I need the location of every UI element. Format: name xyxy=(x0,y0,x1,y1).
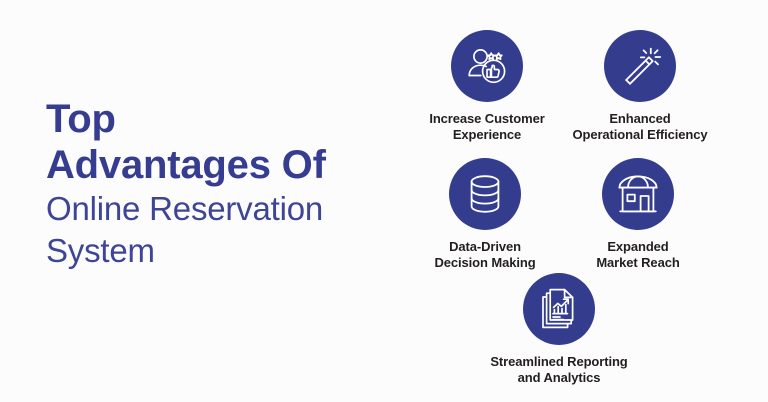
badge-label-line-2: Decision Making xyxy=(434,255,535,270)
badge-label: Increase Customer Experience xyxy=(409,111,565,143)
database-cylinder-icon xyxy=(465,173,505,215)
badge-enhanced-operational-efficiency[interactable]: Enhanced Operational Efficiency xyxy=(562,30,718,143)
badge-label: Streamlined Reporting and Analytics xyxy=(481,354,637,386)
report-bar-chart-document-icon xyxy=(539,287,579,331)
badge-label-line-2: Market Reach xyxy=(596,255,679,270)
badge-label-line-2: and Analytics xyxy=(518,370,601,385)
advantages-icon-cluster: Increase Customer Experience xyxy=(400,0,768,402)
badge-label-line-1: Streamlined Reporting xyxy=(490,354,627,369)
badge-expanded-market-reach[interactable]: Expanded Market Reach xyxy=(560,158,716,271)
badge-label-line-2: Operational Efficiency xyxy=(572,127,707,142)
infographic-canvas: Top Advantages Of Online Reservation Sys… xyxy=(0,0,768,402)
badge-circle xyxy=(523,273,595,345)
badge-label-line-1: Data-Driven xyxy=(449,239,521,254)
storefront-shop-icon xyxy=(616,173,660,215)
page-title: Top Advantages Of Online Reservation Sys… xyxy=(46,96,396,272)
badge-label: Enhanced Operational Efficiency xyxy=(562,111,718,143)
badge-circle xyxy=(604,30,676,102)
badge-label: Expanded Market Reach xyxy=(560,239,716,271)
badge-label-line-1: Increase Customer xyxy=(429,111,544,126)
badge-increase-customer-experience[interactable]: Increase Customer Experience xyxy=(409,30,565,143)
badge-streamlined-reporting-analytics[interactable]: Streamlined Reporting and Analytics xyxy=(481,273,637,386)
badge-data-driven-decision-making[interactable]: Data-Driven Decision Making xyxy=(407,158,563,271)
heading-line-1: Top xyxy=(46,96,396,142)
badge-label: Data-Driven Decision Making xyxy=(407,239,563,271)
badge-label-line-2: Experience xyxy=(453,127,521,142)
heading-line-3: Online Reservation xyxy=(46,188,396,230)
badge-circle xyxy=(602,158,674,230)
magic-wand-sparkle-icon xyxy=(619,45,661,87)
heading-line-2: Advantages Of xyxy=(46,142,396,188)
badge-circle xyxy=(449,158,521,230)
heading-line-4: System xyxy=(46,230,396,272)
user-thumbs-up-stars-icon xyxy=(465,44,509,88)
badge-label-line-1: Expanded xyxy=(607,239,668,254)
badge-label-line-1: Enhanced xyxy=(609,111,670,126)
badge-circle xyxy=(451,30,523,102)
